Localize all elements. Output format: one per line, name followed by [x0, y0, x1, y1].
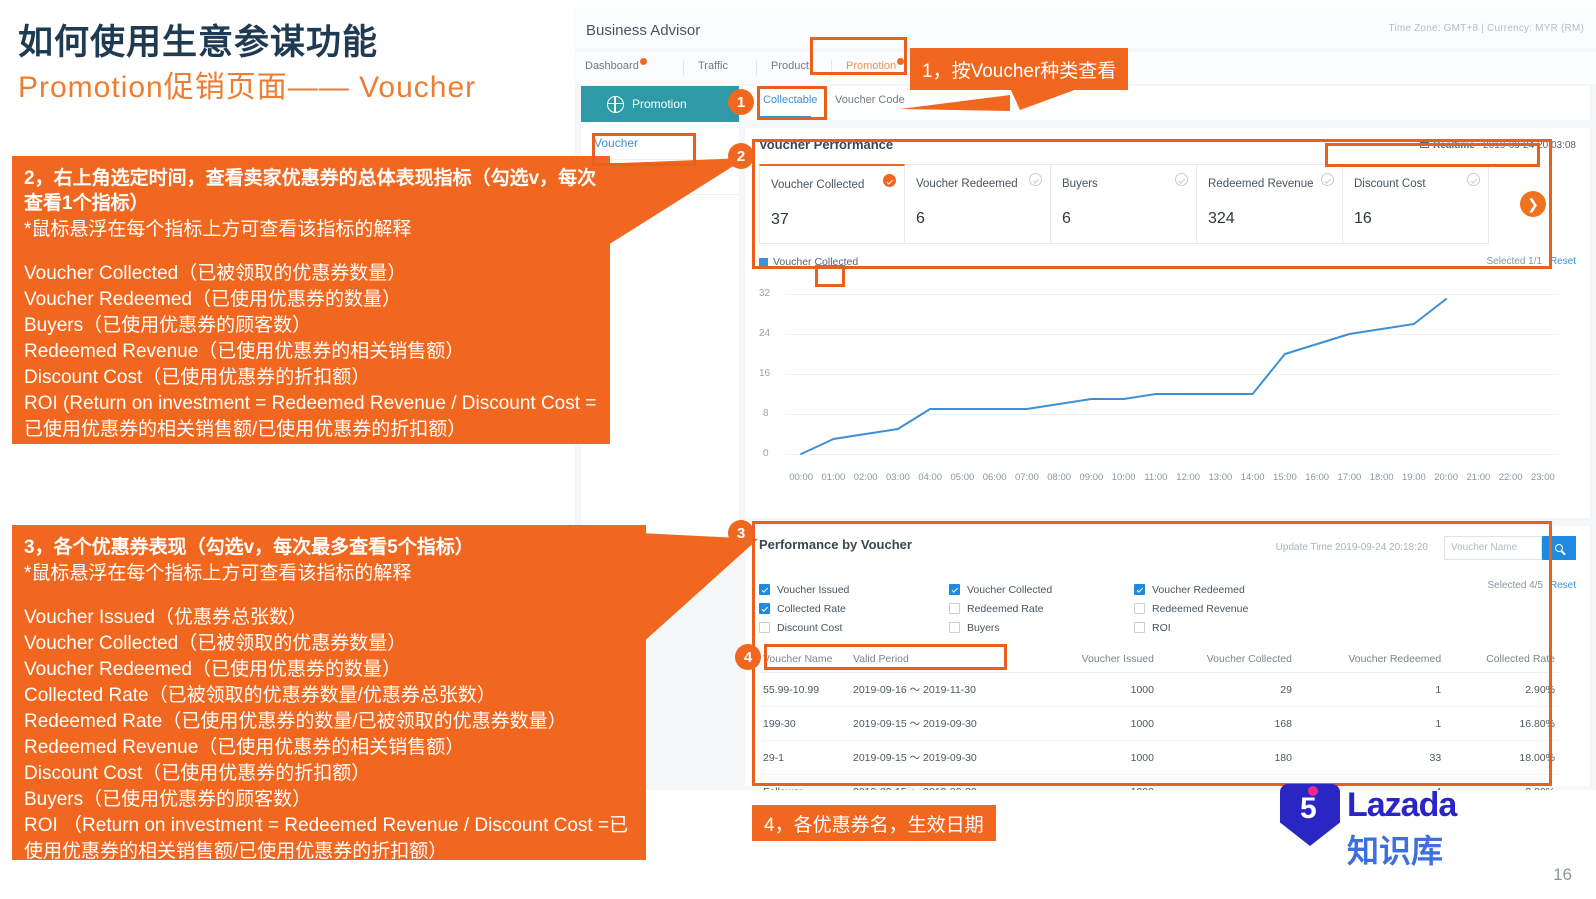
- nav-tab-traffic[interactable]: Traffic: [692, 56, 734, 76]
- chart-line-path: [785, 272, 1559, 467]
- voucher-collected-line-chart: 32 24 16 8 0 00:0001:0002:0003:0004:0005…: [759, 272, 1559, 467]
- callout-2-line: Voucher Redeemed（已使用优惠券的数量）: [24, 287, 598, 313]
- app-title: Business Advisor: [586, 22, 700, 39]
- callout-tag-1: 1，按Voucher种类查看: [910, 48, 1128, 90]
- step-badge-3: 3: [728, 520, 754, 546]
- page-number: 16: [1553, 865, 1572, 885]
- page-title: 如何使用生意参谋功能: [18, 14, 378, 65]
- app-topbar: Business Advisor Time Zone: GMT+8 | Curr…: [575, 8, 1596, 48]
- sidebar-header-label: Promotion: [632, 97, 687, 111]
- callout-block-2: 2，右上角选定时间，查看卖家优惠券的总体表现指标（勾选v，每次查看1个指标） *…: [12, 156, 610, 444]
- callout-2-line: ROI (Return on investment = Redeemed Rev…: [24, 391, 598, 443]
- callout-2-pointer: [596, 150, 756, 270]
- callout-2-line: Buyers（已使用优惠券的顾客数）: [24, 313, 598, 339]
- highlight-box-promotion-tab: [810, 37, 907, 75]
- reset-link[interactable]: Reset: [1550, 580, 1576, 591]
- callout-3-line: Collected Rate（已被领取的优惠券数量/优惠券总张数）: [24, 683, 634, 709]
- x-tick-label: 02:00: [850, 472, 882, 483]
- x-tick-label: 18:00: [1366, 472, 1398, 483]
- lazada-logo: 5 Lazada 知识库: [1275, 782, 1515, 887]
- callout-3-line: ROI （Return on investment = Redeemed Rev…: [24, 813, 634, 865]
- nav-tab-product[interactable]: Product: [765, 56, 815, 76]
- globe-icon: [607, 96, 624, 113]
- callout-tag-4-label: 4，各优惠券名，生效日期: [764, 810, 984, 837]
- callout-tag-1-label: 1，按Voucher种类查看: [922, 56, 1116, 83]
- x-tick-label: 10:00: [1108, 472, 1140, 483]
- nav-tab-dashboard[interactable]: Dashboard: [579, 56, 653, 76]
- callout-3-line: Discount Cost（已使用优惠券的折扣额）: [24, 761, 634, 787]
- highlight-box-table-headers: [764, 644, 1007, 670]
- x-tick-label: 23:00: [1527, 472, 1559, 483]
- callout-3-line: Redeemed Rate（已使用优惠券的数量/已被领取的优惠券数量）: [24, 709, 634, 735]
- y-tick-0: 0: [763, 448, 769, 459]
- nav-divider: [756, 60, 757, 76]
- callout-2-line: Discount Cost（已使用优惠券的折扣额）: [24, 365, 598, 391]
- callout-2-line: Redeemed Revenue（已使用优惠券的相关销售额）: [24, 339, 598, 365]
- callout-2-line: Voucher Collected（已被领取的优惠券数量）: [24, 261, 598, 287]
- x-tick-label: 07:00: [1011, 472, 1043, 483]
- nav-tab-dashboard-label: Dashboard: [585, 60, 639, 72]
- x-tick-label: 15:00: [1269, 472, 1301, 483]
- search-icon: [1555, 544, 1563, 552]
- callout-3-heading: 3，各个优惠券表现（勾选v，每次最多查看5个指标）: [24, 535, 634, 560]
- highlight-box-voucher-menu: [592, 133, 696, 166]
- x-tick-label: 05:00: [946, 472, 978, 483]
- step-badge-4: 4: [735, 644, 761, 670]
- step-badge-2: 2: [728, 143, 754, 169]
- x-tick-label: 03:00: [882, 472, 914, 483]
- y-tick-8: 8: [763, 408, 769, 419]
- highlight-box-collectable-tab: [757, 86, 827, 120]
- x-tick-label: 19:00: [1398, 472, 1430, 483]
- x-tick-label: 12:00: [1172, 472, 1204, 483]
- x-tick-label: 06:00: [979, 472, 1011, 483]
- x-tick-label: 04:00: [914, 472, 946, 483]
- x-tick-label: 21:00: [1462, 472, 1494, 483]
- page-subtitle: Promotion促销页面—— Voucher: [18, 62, 476, 106]
- x-tick-label: 22:00: [1495, 472, 1527, 483]
- x-tick-label: 20:00: [1430, 472, 1462, 483]
- highlight-box-realtime: [1325, 143, 1540, 167]
- callout-tag-1-arrow: [840, 95, 1010, 117]
- highlight-box-legend-check: [815, 265, 845, 287]
- callout-2-note: *鼠标悬浮在每个指标上方可查看该指标的解释: [24, 216, 598, 243]
- nav-tab-product-label: Product: [771, 60, 809, 72]
- callout-3-line: Buyers（已使用优惠券的顾客数）: [24, 787, 634, 813]
- callout-3-note: *鼠标悬浮在每个指标上方可查看该指标的解释: [24, 560, 634, 587]
- callout-3-line: Voucher Redeemed（已使用优惠券的数量）: [24, 657, 634, 683]
- x-tick-label: 09:00: [1075, 472, 1107, 483]
- nav-tab-traffic-label: Traffic: [698, 60, 728, 72]
- x-tick-label: 00:00: [785, 472, 817, 483]
- x-tick-label: 08:00: [1043, 472, 1075, 483]
- reset-link[interactable]: Reset: [1550, 256, 1576, 267]
- lazada-cn-label: 知识库: [1347, 826, 1443, 872]
- x-axis-labels: 00:0001:0002:0003:0004:0005:0006:0007:00…: [785, 472, 1559, 483]
- step-badge-1: 1: [728, 89, 754, 115]
- x-tick-label: 01:00: [817, 472, 849, 483]
- y-tick-16: 16: [759, 368, 770, 379]
- sidebar-header-promotion: Promotion: [581, 86, 739, 122]
- x-tick-label: 16:00: [1301, 472, 1333, 483]
- callout-3-line: Voucher Issued（优惠券总张数）: [24, 605, 634, 631]
- callout-block-3: 3，各个优惠券表现（勾选v，每次最多查看5个指标） *鼠标悬浮在每个指标上方可查…: [12, 525, 646, 860]
- x-tick-label: 11:00: [1140, 472, 1172, 483]
- lazada-wordmark: Lazada: [1347, 786, 1456, 825]
- x-tick-label: 13:00: [1204, 472, 1236, 483]
- nav-divider: [683, 60, 684, 76]
- x-tick-label: 14:00: [1237, 472, 1269, 483]
- y-tick-32: 32: [759, 288, 770, 299]
- timezone-currency-label: Time Zone: GMT+8 | Currency: MYR (RM): [1389, 23, 1585, 34]
- slide-page: 如何使用生意参谋功能 Promotion促销页面—— Voucher Busin…: [0, 0, 1596, 899]
- callout-tag-1-pointer: [1000, 88, 1120, 118]
- notification-dot-icon: [640, 58, 647, 65]
- lazada-dot-icon: [1308, 786, 1318, 796]
- x-tick-label: 17:00: [1333, 472, 1365, 483]
- callout-2-heading: 2，右上角选定时间，查看卖家优惠券的总体表现指标（勾选v，每次查看1个指标）: [24, 166, 598, 216]
- y-tick-24: 24: [759, 328, 770, 339]
- callout-3-line: Redeemed Revenue（已使用优惠券的相关销售额）: [24, 735, 634, 761]
- callout-3-line: Voucher Collected（已被领取的优惠券数量）: [24, 631, 634, 657]
- callout-tag-4: 4，各优惠券名，生效日期: [752, 805, 996, 841]
